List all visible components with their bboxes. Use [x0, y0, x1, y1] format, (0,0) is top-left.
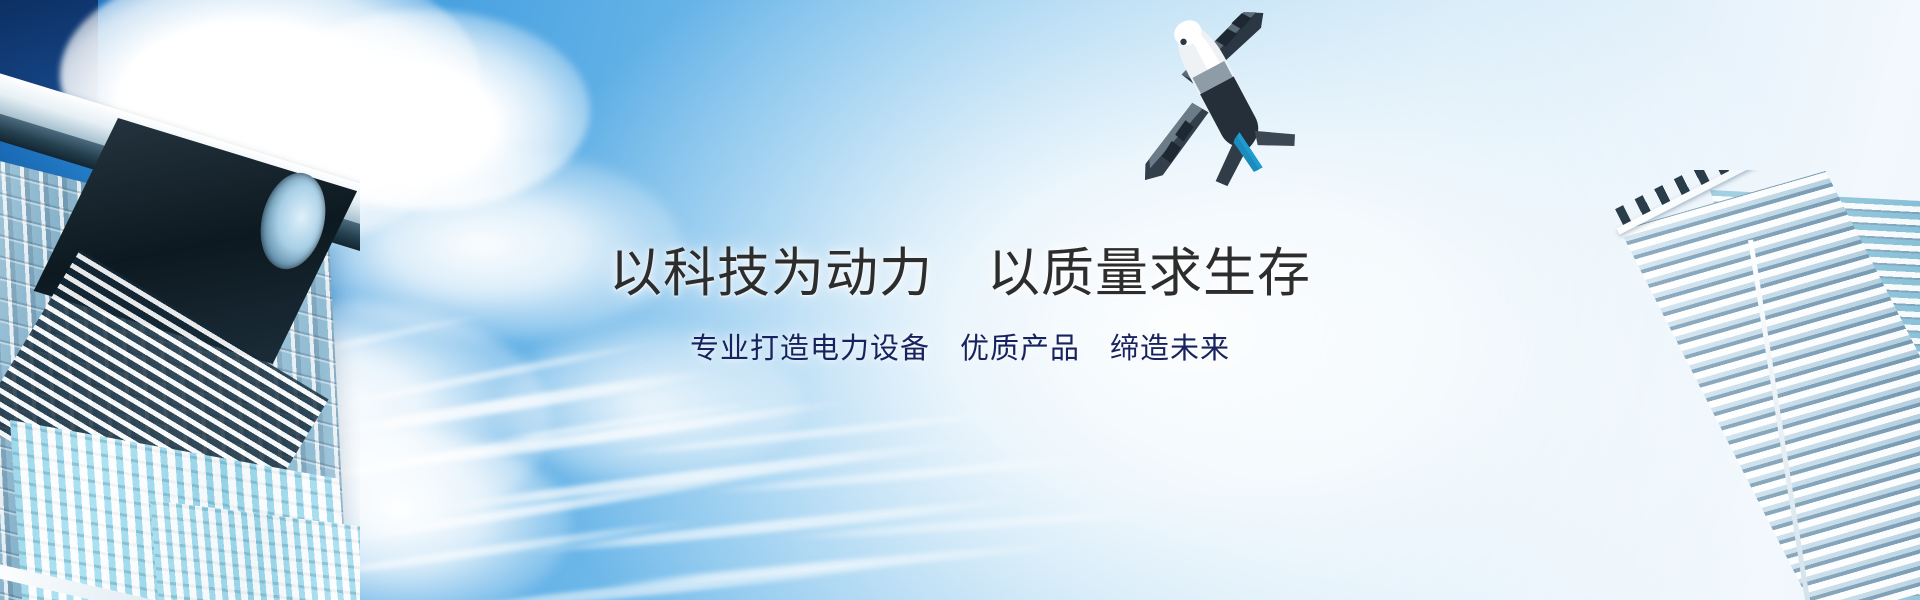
hero-banner: 以科技为动力 以质量求生存 专业打造电力设备 优质产品 缔造未来 [0, 0, 1920, 600]
banner-copy: 以科技为动力 以质量求生存 专业打造电力设备 优质产品 缔造未来 [0, 0, 1920, 600]
page-title: 以科技为动力 以质量求生存 [609, 245, 1311, 303]
page-subtitle: 专业打造电力设备 优质产品 缔造未来 [690, 334, 1230, 366]
